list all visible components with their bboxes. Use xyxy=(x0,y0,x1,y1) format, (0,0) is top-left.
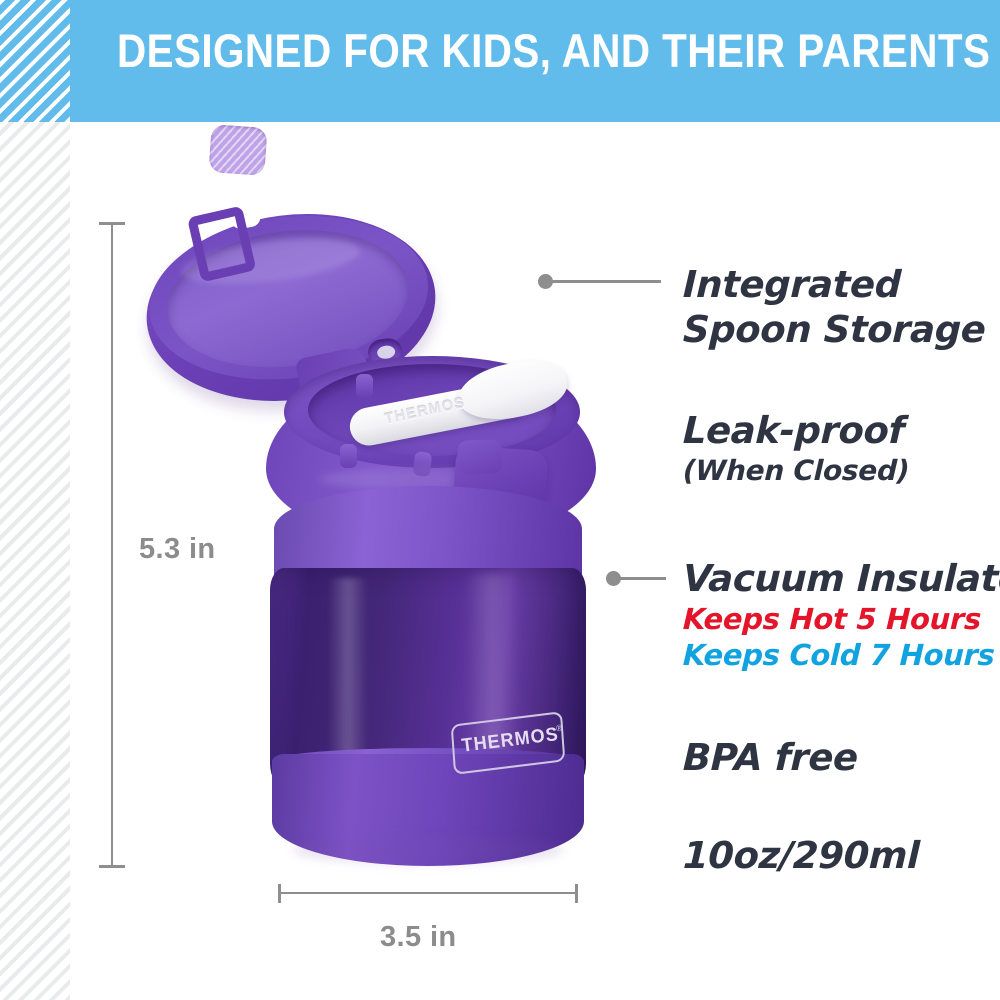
feature-bpa-free-line1: BPA free xyxy=(682,735,858,780)
jar-gloss-left xyxy=(328,578,368,778)
height-dimension-cap-bottom xyxy=(99,865,125,868)
feature-capacity: 10oz/290ml xyxy=(683,833,919,878)
feature-vacuum-insulated: Vacuum Insulated Keeps Hot 5 Hours Keeps… xyxy=(683,556,1000,674)
leader-line-spoon-storage xyxy=(551,280,661,283)
lid-latch-tab xyxy=(457,439,502,475)
latch-grip-pad xyxy=(208,124,267,176)
feature-leak-proof-line1: Leak-proof xyxy=(682,408,910,453)
leader-line-vacuum-insulated xyxy=(619,577,666,580)
feature-leak-proof-line2: (When Closed) xyxy=(682,453,910,488)
feature-spoon-storage-line1: Integrated xyxy=(682,262,986,307)
feature-keeps-hot: Keeps Hot 5 Hours xyxy=(682,601,1000,637)
jar-body xyxy=(268,486,588,868)
registered-mark-icon: ® xyxy=(555,723,563,734)
width-dimension-label: 3.5 in xyxy=(380,921,457,954)
feature-keeps-cold: Keeps Cold 7 Hours xyxy=(682,637,1000,673)
infographic-page: DESIGNED FOR KIDS, AND THEIR PARENTS xyxy=(0,0,1000,1000)
feature-spoon-storage-line2: Spoon Storage xyxy=(682,307,986,352)
feature-vacuum-insulated-line1: Vacuum Insulated xyxy=(682,556,1000,601)
feature-bpa-free: BPA free xyxy=(683,735,858,780)
feature-leak-proof: Leak-proof (When Closed) xyxy=(683,408,909,488)
height-dimension-label: 5.3 in xyxy=(139,533,216,566)
jar-base-shadow xyxy=(292,836,564,864)
width-dimension-cap-right xyxy=(575,884,578,903)
feature-capacity-line1: 10oz/290ml xyxy=(682,833,920,878)
width-dimension-line xyxy=(278,892,578,894)
height-dimension-line xyxy=(111,222,113,868)
feature-spoon-storage: Integrated Spoon Storage xyxy=(683,262,986,352)
